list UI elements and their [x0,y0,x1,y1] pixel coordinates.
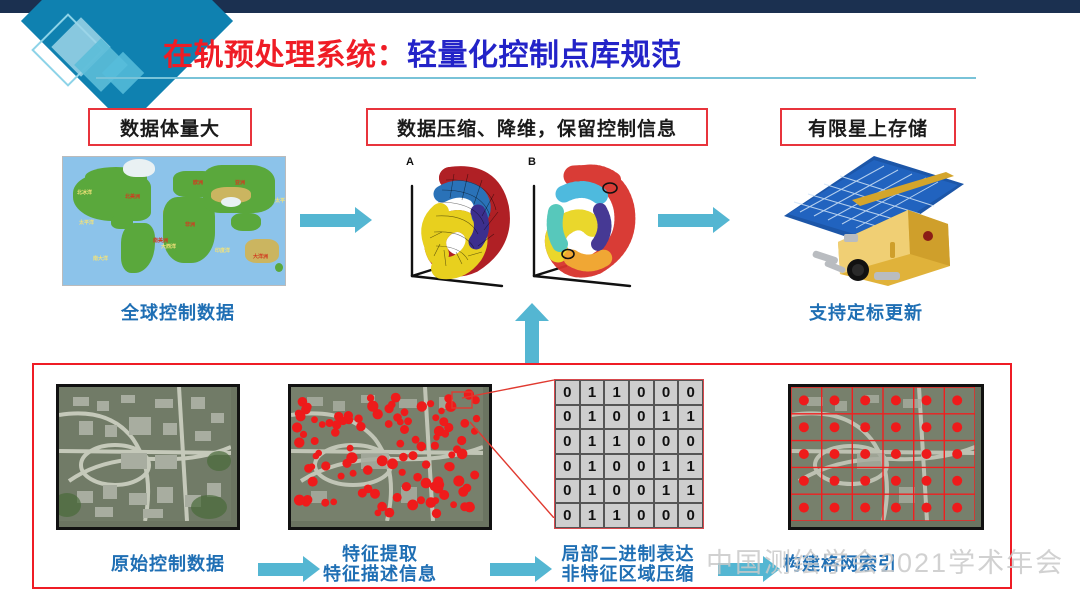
caption-line: 非特征区域压缩 [540,564,716,584]
grid-control-point [830,449,840,459]
matrix-cell: 0 [604,479,629,504]
feature-point [433,476,443,486]
map-region-label: 大洋洲 [253,253,268,260]
matrix-cell: 1 [580,380,605,405]
matrix-cell: 0 [629,454,654,479]
map-region-label: 北冰洋 [77,189,92,196]
feature-point [308,477,318,487]
feature-point [385,420,393,428]
map-region-label: 北美洲 [125,193,140,200]
feature-point [444,394,453,403]
matrix-cell: 0 [654,503,679,528]
matrix-cell: 0 [555,479,580,504]
grid-control-point [830,503,840,513]
feature-point [464,389,474,399]
label-box-onboard-storage: 有限星上存储 [780,108,956,146]
feature-point [417,442,427,452]
feature-point [433,434,439,440]
caption-binary-expression: 局部二进制表达非特征区域压缩 [540,544,716,584]
caption-line: 特征提取 [300,544,460,564]
manifold-panel-a-label: A [406,156,414,168]
grid-control-point [891,449,901,459]
caption-line: 特征描述信息 [300,564,460,584]
map-greenland [123,159,155,177]
feature-point [409,451,418,460]
feature-point [304,403,312,411]
matrix-cell: 1 [580,503,605,528]
feature-point [399,469,406,476]
world-map-image: 北美洲南美洲欧洲亚洲非洲大洋洲北冰洋太平洋大西洋印度洋南大洋太平洋 [62,156,286,286]
feature-point [388,401,396,409]
aerial-grid-svg [791,387,975,521]
map-himalaya [221,197,241,207]
grid-control-point [922,422,932,432]
feature-point [450,501,457,508]
feature-point [331,428,340,437]
matrix-cell: 0 [654,429,679,454]
feature-point [367,401,378,412]
feature-point [321,461,330,470]
feature-point [296,411,306,421]
map-region-label: 非洲 [185,221,195,228]
label-box-compression: 数据压缩、降维，保留控制信息 [366,108,708,146]
feature-point [309,463,316,470]
grid-control-point [860,503,870,513]
map-region-label: 印度洋 [215,247,230,254]
feature-point [407,500,418,511]
matrix-cell: 0 [678,429,703,454]
map-region-label: 太平洋 [275,197,286,204]
feature-point [346,452,357,463]
matrix-cell: 1 [678,405,703,430]
grid-control-point [922,503,932,513]
feature-point [460,419,469,428]
matrix-cell: 1 [654,479,679,504]
aerial-features-svg [291,387,483,521]
feature-point [427,400,434,407]
caption-feature-extraction: 特征提取特征描述信息 [300,544,460,584]
grid-control-point [830,476,840,486]
feature-point [347,445,354,452]
feature-point [432,414,439,421]
manifold-surface-a-svg [398,150,520,290]
aerial-image-features [288,384,492,530]
feature-point [460,502,469,511]
manifold-panel-b-label: B [528,156,536,168]
feature-point [448,451,455,458]
matrix-cell: 1 [580,479,605,504]
grid-control-point [799,422,809,432]
feature-point [330,499,337,506]
grid-control-point [952,503,962,513]
grid-control-point [860,476,870,486]
feature-point [338,473,345,480]
label-box-data-volume: 数据体量大 [88,108,252,146]
feature-point [421,478,432,489]
caption-global-control-data: 全球控制数据 [68,303,288,323]
grid-control-point [830,422,840,432]
matrix-cell: 1 [604,429,629,454]
feature-point [319,421,326,428]
grid-control-point [922,449,932,459]
feature-point [432,497,439,504]
feature-point [432,509,441,518]
feature-point [300,397,306,403]
matrix-cell: 0 [604,454,629,479]
matrix-cell: 0 [555,503,580,528]
grid-control-point [952,395,962,405]
arrow-right-map-to-manifold [300,207,372,234]
map-new-zealand [275,263,283,272]
aerial-image-grid-index [788,384,984,530]
feature-point [332,420,341,429]
feature-point [445,401,456,412]
feature-point [393,493,402,502]
feature-point [417,401,427,411]
feature-point [396,440,404,448]
manifold-panel-a: A [398,150,520,290]
grid-control-point [922,476,932,486]
binary-matrix-table: 011000010011011000010011010011011000 [554,379,704,529]
feature-point [412,436,420,444]
page-title-red: 在轨预处理系统： [163,39,407,72]
matrix-cell: 1 [604,380,629,405]
grid-control-point [799,476,809,486]
feature-point [292,422,302,432]
feature-point [300,431,307,438]
feature-point [367,394,374,401]
matrix-cell: 1 [580,405,605,430]
matrix-cell: 1 [678,479,703,504]
feature-point [387,458,398,469]
feature-point [470,471,479,480]
matrix-cell: 0 [678,503,703,528]
matrix-cell: 0 [629,429,654,454]
feature-point [373,412,380,419]
feature-point [473,415,480,422]
manifold-panel-b: B [520,150,646,290]
grid-control-point [799,395,809,405]
matrix-cell: 1 [654,405,679,430]
grid-control-point [799,503,809,513]
matrix-cell: 0 [555,380,580,405]
feature-point [422,460,430,468]
matrix-cell: 0 [629,405,654,430]
feature-point [400,425,409,434]
grid-control-point [830,395,840,405]
arrow-up-to-compression [515,303,549,365]
feature-point [401,408,409,416]
matrix-cell: 0 [555,454,580,479]
grid-control-point [952,476,962,486]
feature-point [321,499,329,507]
feature-point [377,455,388,466]
map-region-label: 大西洋 [161,243,176,250]
aerial-raw-svg [59,387,231,521]
feature-point [463,484,472,493]
feature-point [439,417,448,426]
matrix-cell: 0 [555,405,580,430]
arrow-right-manifold-to-satellite [658,207,730,234]
feature-point [471,428,478,435]
map-region-label: 南大洋 [93,255,108,262]
matrix-cell: 0 [629,380,654,405]
feature-point [413,473,422,482]
feature-point [363,465,373,475]
grid-control-point [891,503,901,513]
map-southeast-asia [231,213,261,231]
satellite-image [778,150,994,288]
feature-point [402,482,411,491]
feature-point [294,437,304,447]
grid-control-point [799,449,809,459]
grid-control-point [922,395,932,405]
feature-point [344,411,353,420]
feature-point [294,495,305,506]
matrix-cell: 0 [629,503,654,528]
feature-point [404,417,412,425]
title-underline [96,77,976,79]
feature-point [356,422,365,431]
matrix-cell: 0 [678,380,703,405]
grid-control-point [952,449,962,459]
matrix-cell: 1 [654,454,679,479]
map-region-label: 亚洲 [235,179,245,186]
watermark-text: 中国测绘学会2021学术年会 [706,541,1064,580]
matrix-cell: 1 [678,454,703,479]
map-region-label: 太平洋 [79,219,94,226]
caption-raw-control-data: 原始控制数据 [78,554,258,574]
feature-point [377,502,387,512]
matrix-cell: 0 [629,479,654,504]
feature-point [313,453,320,460]
feature-point [453,476,464,487]
matrix-cell: 1 [580,429,605,454]
feature-point [358,489,367,498]
feature-point [457,449,468,460]
feature-point [350,470,357,477]
feature-point [438,408,445,415]
feature-point [370,489,380,499]
grid-control-point [891,476,901,486]
grid-control-point [952,422,962,432]
map-region-label: 欧洲 [193,179,203,186]
matrix-cell: 0 [604,405,629,430]
matrix-cell: 0 [555,429,580,454]
caption-line: 局部二进制表达 [540,544,716,564]
feature-point [417,496,425,504]
matrix-cell: 0 [654,380,679,405]
manifold-pointcloud-b-svg [520,150,646,290]
aerial-image-raw [56,384,240,530]
caption-calibration-update: 支持定标更新 [778,303,954,323]
feature-point [445,462,454,471]
grid-control-point [860,449,870,459]
feature-point [311,437,319,445]
page-title-blue: 轻量化控制点库规范 [407,39,682,72]
feature-point [311,416,318,423]
matrix-cell: 1 [604,503,629,528]
grid-control-point [891,422,901,432]
grid-control-point [860,422,870,432]
feature-point [431,442,439,450]
feature-point [399,453,408,462]
feature-point [354,415,362,423]
grid-control-point [891,395,901,405]
grid-control-point [860,395,870,405]
feature-point [457,436,466,445]
matrix-cell: 1 [580,454,605,479]
feature-point [441,430,449,438]
feature-point [397,419,404,426]
page-title: 在轨预处理系统：轻量化控制点库规范 [163,30,682,74]
satellite-svg [778,150,994,288]
